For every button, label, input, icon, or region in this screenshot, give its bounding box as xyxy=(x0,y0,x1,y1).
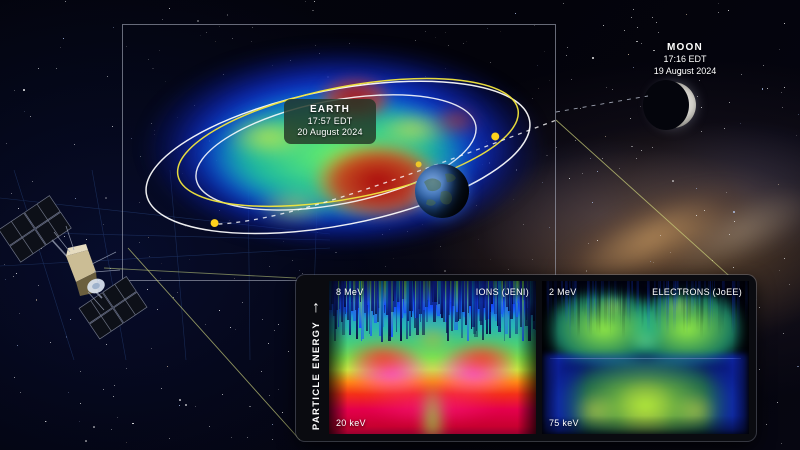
ions-energy-max-label: 8 MeV xyxy=(336,287,364,297)
earth-globe xyxy=(415,164,469,218)
orbit-marker-mid xyxy=(416,161,422,167)
moon-shadow-mask xyxy=(643,80,689,130)
spectrogram-inset-panel: ↑ PARTICLE ENERGY xyxy=(296,275,756,441)
ions-spectrogram-panel[interactable]: 8 MeV IONS (JENI) 20 keV xyxy=(329,281,536,434)
electrons-energy-max-label: 2 MeV xyxy=(549,287,577,297)
electrons-heatmap xyxy=(542,281,749,434)
electrons-spectrogram-panel[interactable]: 2 MeV ELECTRONS (JoEE) 75 keV xyxy=(542,281,749,434)
scene-canvas: EARTH 17:57 EDT 20 August 2024 MOON 17:1… xyxy=(0,0,800,450)
ions-energy-min-label: 20 keV xyxy=(336,418,366,428)
spacecraft-icon xyxy=(0,178,150,350)
moon-label-title: MOON xyxy=(623,41,747,54)
crescent-moon xyxy=(650,82,696,128)
orbit-marker-right xyxy=(491,133,499,141)
electrons-instrument-label: ELECTRONS (JoEE) xyxy=(652,287,742,297)
ions-instrument-label: IONS (JENI) xyxy=(476,287,529,297)
particle-energy-axis: ↑ PARTICLE ENERGY xyxy=(303,281,329,434)
earth-label-title: EARTH xyxy=(295,104,365,116)
magnetosphere-bounding-box xyxy=(122,24,556,281)
axis-arrow-up: ↑ xyxy=(312,300,320,316)
orbit-marker-left xyxy=(211,219,219,227)
orbit-ellipse-outer xyxy=(134,54,543,261)
moon-label-time: 17:16 EDT xyxy=(623,54,747,66)
moon-label: MOON 17:16 EDT 19 August 2024 xyxy=(623,41,747,78)
axis-label-text: PARTICLE ENERGY xyxy=(311,321,322,430)
earth-terminator xyxy=(415,164,469,218)
electrons-energy-min-label: 75 keV xyxy=(549,418,579,428)
moon-path-dashed xyxy=(219,121,555,225)
orbit-overlay xyxy=(123,25,555,280)
earth-label-date: 20 August 2024 xyxy=(295,127,365,138)
earth-label-chip: EARTH 17:57 EDT 20 August 2024 xyxy=(284,99,376,144)
moon-label-date: 19 August 2024 xyxy=(623,66,747,78)
earth-label-time: 17:57 EDT xyxy=(295,116,365,127)
ions-heatmap xyxy=(329,281,536,434)
